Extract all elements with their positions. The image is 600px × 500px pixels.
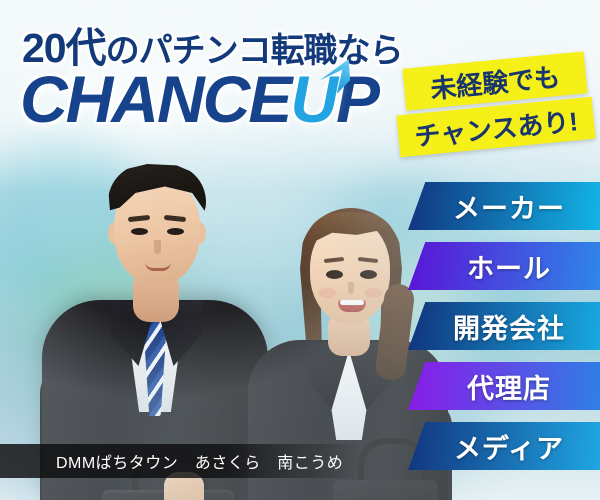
chance-up-logo: CHANCEUP: [20, 66, 378, 132]
tag-media[interactable]: メディア: [408, 422, 600, 470]
tag-label: ホール: [457, 247, 551, 286]
logo-word-chance: CHANCE: [20, 62, 290, 136]
caption-text: DMMぱちタウン あさくら 南こうめ: [0, 449, 343, 473]
logo-letter-u: U: [290, 62, 336, 136]
woman-nose: [348, 282, 354, 294]
man-eye-right: [167, 228, 184, 235]
woman-cheek-right: [364, 288, 382, 298]
tag-label: メディア: [444, 427, 564, 466]
tag-hall[interactable]: ホール: [408, 242, 600, 290]
tag-maker[interactable]: メーカー: [408, 182, 600, 230]
tag-development-company[interactable]: 開発会社: [408, 302, 600, 350]
tag-agency[interactable]: 代理店: [408, 362, 600, 410]
category-tag-list: メーカー ホール 開発会社 代理店 メディア: [408, 182, 600, 482]
tag-label: 代理店: [457, 367, 551, 406]
caption-bar: DMMぱちタウン あさくら 南こうめ: [0, 444, 360, 478]
woman-bag: [334, 480, 438, 500]
woman-cheek-left: [318, 288, 336, 298]
banner-advertisement[interactable]: 20代のパチンコ転職なら CHANCEUP 未経験でも チャンスあり! メーカー…: [0, 0, 600, 500]
woman-eye-left: [326, 270, 343, 279]
man-eye-left: [131, 228, 148, 235]
tag-label: メーカー: [443, 187, 565, 226]
man-nose: [154, 240, 161, 254]
woman-teeth: [340, 300, 364, 305]
woman-eye-right: [360, 270, 377, 279]
tag-label: 開発会社: [443, 307, 565, 346]
